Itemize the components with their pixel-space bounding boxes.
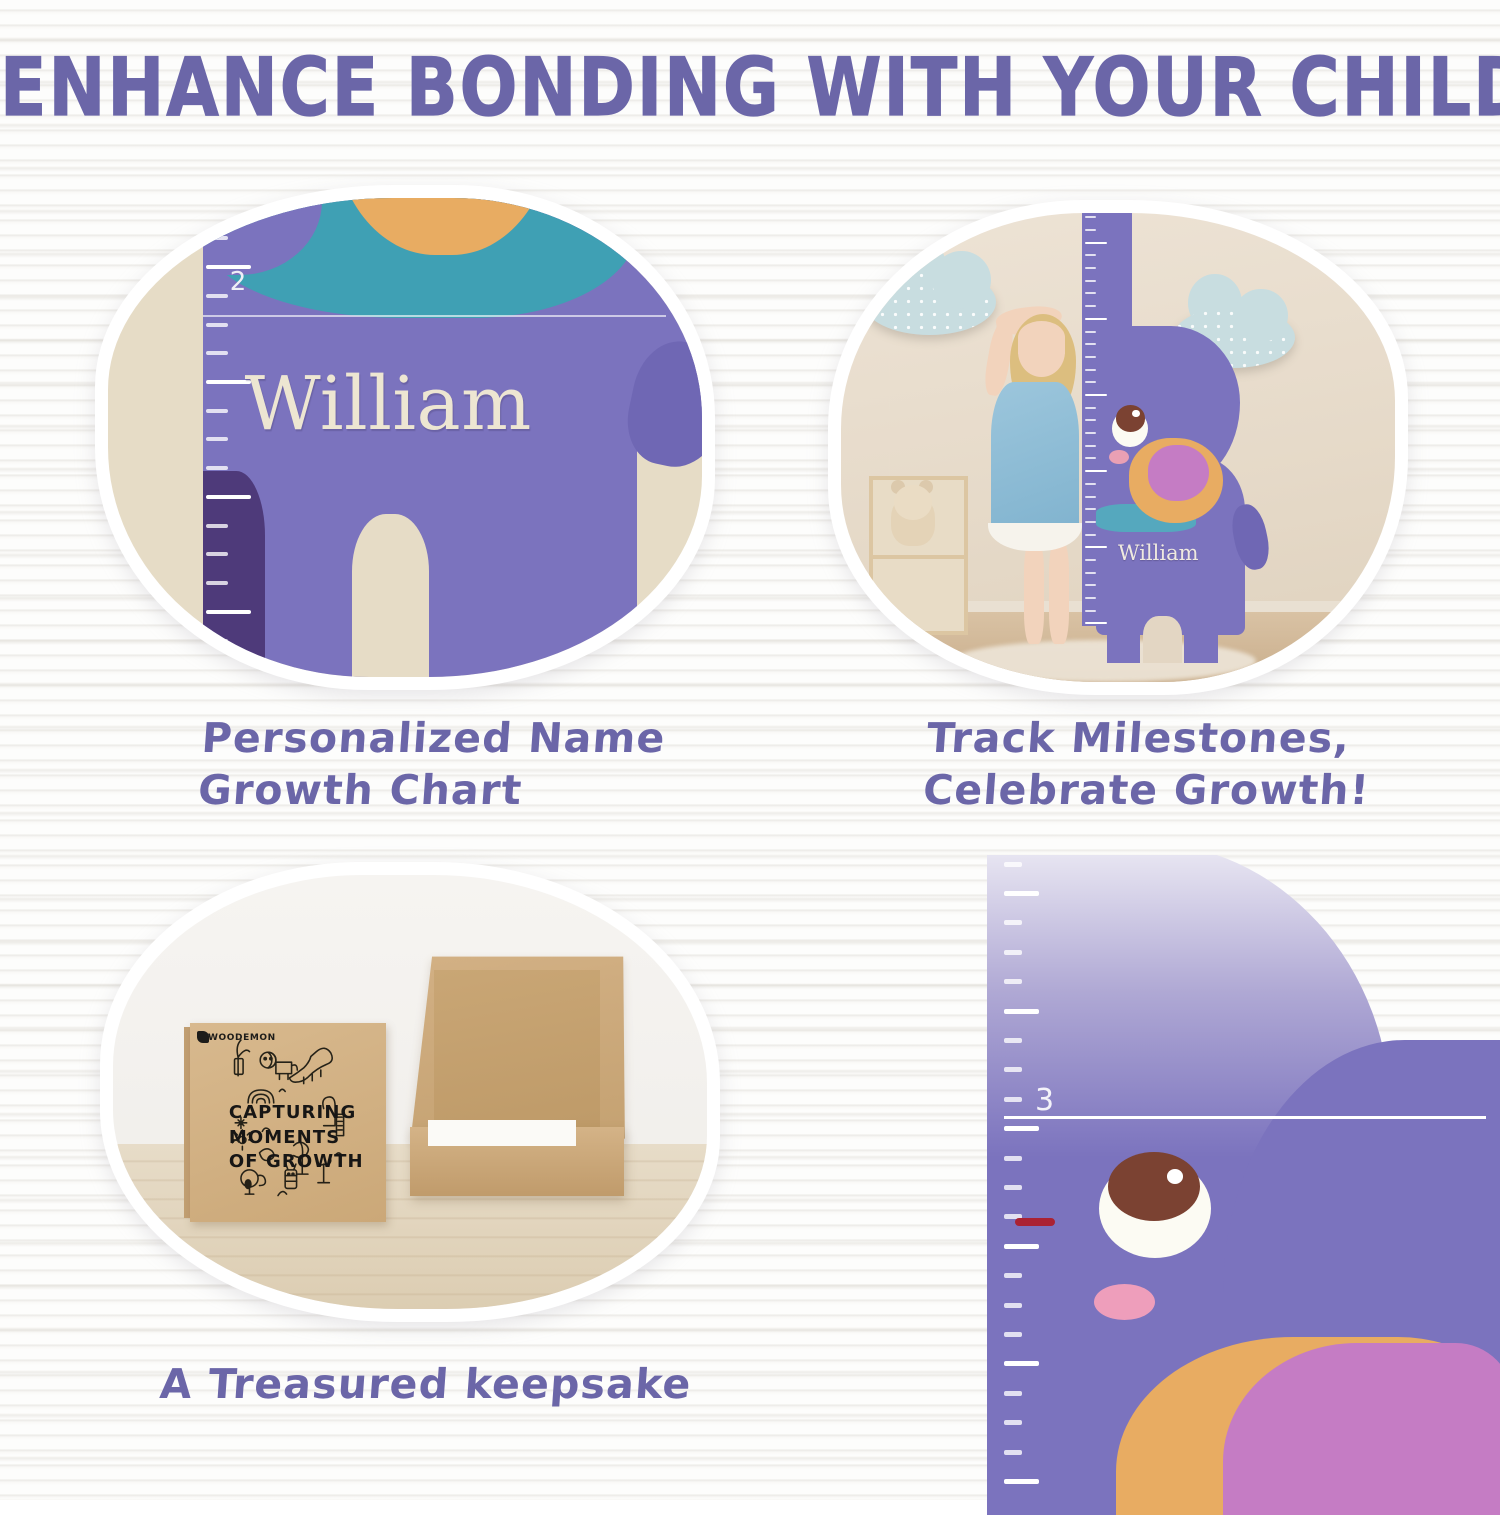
ruler-tick-major [1085, 622, 1107, 624]
cloud-pillow-left [863, 269, 996, 335]
ruler-tick-minor [206, 466, 228, 470]
ruler-tick-minor [206, 351, 228, 355]
ruler-tick-minor [206, 294, 228, 298]
caption-track-milestones: Track Milestones, Celebrate Growth! [921, 712, 1375, 817]
panel-face-macro[interactable]: 3 [965, 855, 1500, 1515]
caption-line: Growth Chart [196, 764, 663, 816]
caption-line: A Treasured keepsake [158, 1358, 693, 1410]
ruler-tick-minor [1085, 419, 1096, 421]
ruler-tick-minor [1085, 292, 1096, 294]
ruler-tick-major [1085, 242, 1107, 244]
cloud-dots [863, 269, 996, 335]
ruler-red-marker [1015, 1218, 1054, 1226]
engraved-name: William [1118, 541, 1199, 565]
shelf-divider [869, 555, 969, 559]
ruler-tick-minor [1085, 331, 1096, 333]
ruler-tick-minor [1004, 1420, 1022, 1425]
ruler-tick-minor [1085, 597, 1096, 599]
ruler-tick-major [1004, 1479, 1039, 1484]
ruler-tick-minor [1085, 229, 1096, 231]
ruler-scale [1085, 213, 1110, 635]
open-box-interior [434, 970, 600, 1135]
girl-dress [991, 382, 1080, 541]
caption-treasured-keepsake: A Treasured keepsake [158, 1358, 693, 1410]
ruler-tick-minor [206, 524, 228, 528]
ruler-tick-major [206, 495, 251, 499]
ruler-tick-minor [1004, 950, 1022, 955]
ruler-tick-minor [1004, 1332, 1022, 1337]
ruler-tick-minor [1085, 343, 1096, 345]
engraved-name: William [245, 361, 532, 447]
ruler-scale [1004, 862, 1049, 1509]
ruler-tick-minor [1085, 572, 1096, 574]
ruler-tick-minor [1085, 216, 1096, 218]
box-slogan-line: MOMENTS [229, 1126, 364, 1151]
elephant-eye-iris [1116, 405, 1145, 431]
ruler-tick-minor [206, 208, 228, 212]
ruler-tick-minor [1085, 356, 1096, 358]
ruler-tick-major [1085, 318, 1107, 320]
ruler-tick-minor [1004, 862, 1022, 867]
ruler-tick-minor [206, 552, 228, 556]
ruler-tick-minor [206, 236, 228, 240]
ruler-tick-minor [1085, 369, 1096, 371]
ruler-tick-minor [206, 581, 228, 585]
ruler-tick-minor [206, 437, 228, 441]
ruler-tick-minor [1004, 1038, 1022, 1043]
caption-line: Personalized Name [200, 712, 667, 764]
box-slogan-line: CAPTURING [229, 1101, 364, 1126]
ruler-tick-minor [1004, 1156, 1022, 1161]
ruler-tick-minor [1085, 267, 1096, 269]
ruler-tick-minor [1004, 979, 1022, 984]
ruler-tick-minor [206, 409, 228, 413]
ruler-tick-minor [1085, 483, 1096, 485]
elephant-leg-right [1184, 616, 1217, 663]
ruler-tick-minor [1085, 496, 1096, 498]
ruler-tick-minor [1085, 445, 1096, 447]
ruler-tick-minor [1085, 559, 1096, 561]
elephant-eye-highlight [1132, 410, 1139, 417]
ruler-tick-major [1085, 394, 1107, 396]
box-paper-insert [428, 1120, 577, 1146]
panel-personalized-name[interactable]: 2 William [95, 185, 715, 690]
panel-track-milestones-image: William [841, 213, 1395, 682]
ruler-tick-minor [206, 323, 228, 327]
height-line [203, 315, 666, 317]
elephant-leg-gap [1143, 616, 1182, 663]
ruler-tick-minor [1085, 254, 1096, 256]
elephant-cheek [1109, 450, 1129, 464]
ruler-tick-minor [1085, 305, 1096, 307]
ruler-tick-major [1085, 470, 1107, 472]
ruler-tick-major [1004, 1361, 1039, 1366]
elephant-leg-left [1107, 616, 1140, 663]
ruler-tick-minor [1085, 521, 1096, 523]
ruler-tick-minor [1085, 610, 1096, 612]
girl-leg-left [1024, 541, 1044, 644]
ruler-tick-minor [206, 639, 228, 643]
box-brand-name: WOODEMON [208, 1033, 276, 1043]
caption-line: Celebrate Growth! [921, 764, 1371, 816]
ruler-tick-minor [1085, 280, 1096, 282]
caption-line: Track Milestones, [925, 712, 1375, 764]
box-slogan: CAPTURING MOMENTS OF GROWTH [229, 1101, 364, 1175]
ruler-tick-minor [1004, 1303, 1022, 1308]
panel-personalized-name-image: 2 William [108, 198, 702, 677]
caption-personalized-name: Personalized Name Growth Chart [196, 712, 667, 817]
ruler-tick-minor [1085, 381, 1096, 383]
box-slogan-line: OF GROWTH [229, 1150, 364, 1175]
ruler-tick-minor [1004, 1097, 1022, 1102]
ruler-tick-major [1004, 1126, 1039, 1131]
ruler-tick-minor [1004, 1391, 1022, 1396]
ruler-tick-minor [1085, 457, 1096, 459]
elephant-eye-highlight [1167, 1169, 1184, 1184]
panel-treasured-keepsake[interactable]: WOODEMON CAPTURING MOMENTS OF GROWTH [100, 862, 720, 1322]
ruler-tick-minor [1004, 1067, 1022, 1072]
girl-fringe [1018, 321, 1065, 354]
ruler-tick-minor [1085, 508, 1096, 510]
ruler-tick-major [1004, 1244, 1039, 1249]
ruler-tick-major [1004, 891, 1039, 896]
ruler-tick-major [206, 610, 251, 614]
ruler-tick-major [1085, 546, 1107, 548]
elephant-eye-iris [1108, 1152, 1200, 1221]
girl-leg-right [1049, 541, 1069, 644]
ruler-tick-minor [1004, 1185, 1022, 1190]
ruler-tick-minor [1004, 1273, 1022, 1278]
page-title: ENHANCE BONDING WITH YOUR CHILD [0, 42, 1500, 135]
ruler-number-2: 2 [230, 267, 247, 297]
panel-treasured-keepsake-image: WOODEMON CAPTURING MOMENTS OF GROWTH [113, 875, 707, 1309]
ruler-tick-minor [1085, 584, 1096, 586]
ruler-tick-minor [1004, 920, 1022, 925]
ruler-tick-minor [1085, 407, 1096, 409]
elephant-leg-gap [352, 514, 429, 677]
ruler-tick-minor [1085, 534, 1096, 536]
panel-face-macro-image: 3 [965, 855, 1500, 1515]
ruler-tick-minor [1004, 1450, 1022, 1455]
panel-track-milestones[interactable]: William [828, 200, 1408, 695]
ruler-tick-minor [1085, 432, 1096, 434]
height-line [1004, 1116, 1486, 1119]
ruler-tick-major [1004, 1009, 1039, 1014]
